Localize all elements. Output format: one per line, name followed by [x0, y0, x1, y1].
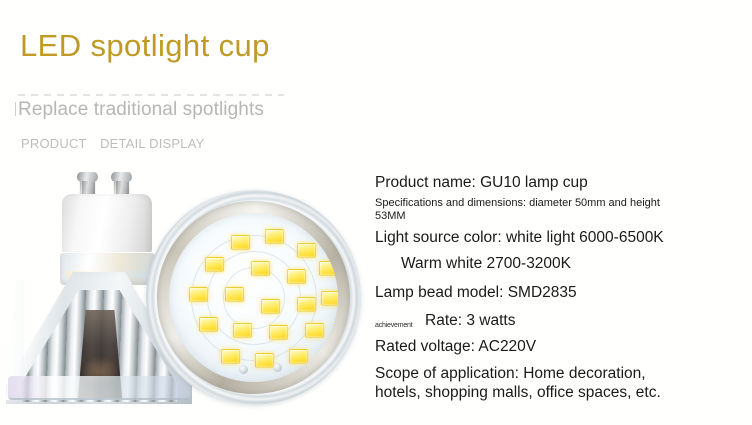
smd-led-chip-16 [305, 323, 324, 338]
smd-led-chip-11 [297, 297, 316, 312]
spec-rated-voltage: Rated voltage: AC220V [375, 336, 747, 357]
smd-led-chip-8 [189, 287, 208, 302]
dashed-divider [18, 94, 284, 96]
smd-led-chip-19 [289, 349, 308, 364]
spec-rate-row: achievement Rate: 3 watts [375, 310, 747, 331]
smd-led-chip-14 [233, 323, 252, 338]
subtitle-tick-mark [15, 102, 16, 116]
smd-led-chip-5 [251, 261, 270, 276]
spec-light-source-color: Light source color: white light 6000-650… [375, 227, 747, 248]
smd-led-chip-4 [205, 257, 224, 272]
smd-led-chip-1 [231, 235, 250, 250]
smd-led-chip-15 [269, 325, 288, 340]
spec-lamp-bead-model: Lamp bead model: SMD2835 [375, 282, 747, 303]
smd-led-chip-9 [225, 287, 244, 302]
caption-product-label: PRODUCT [21, 136, 86, 151]
gu10-lamp-led-face-photo [146, 190, 361, 410]
smd-led-chip-3 [297, 243, 316, 258]
lamp-ceramic-base [62, 194, 152, 256]
product-detail-banner: LED spotlight cup Replace traditional sp… [0, 0, 752, 425]
spec-product-name: Product name: GU10 lamp cup [375, 172, 747, 193]
spec-dimensions: Specifications and dimensions: diameter … [375, 197, 675, 222]
smd-led-chip-10 [261, 299, 280, 314]
specification-list: Product name: GU10 lamp cup Specificatio… [375, 172, 747, 402]
smd-led-chip-7 [319, 261, 338, 276]
caption-detail-display-label: DETAIL DISPLAY [100, 136, 204, 151]
achievement-micro-label: achievement [375, 322, 425, 332]
product-photo-group [0, 160, 360, 425]
page-title: LED spotlight cup [20, 28, 270, 64]
smd-led-chip-6 [287, 269, 306, 284]
solder-pad-2 [273, 363, 282, 372]
subtitle-text: Replace traditional spotlights [18, 99, 264, 120]
spec-warm-white: Warm white 2700-3200K [375, 253, 747, 274]
smd-led-chip-12 [321, 291, 338, 306]
subtitle: Replace traditional spotlights [18, 99, 264, 121]
smd-led-chip-2 [265, 229, 284, 244]
lamp-led-pcb [169, 213, 338, 382]
spec-scope-of-application: Scope of application: Home decoration, h… [375, 364, 695, 402]
spec-rate: Rate: 3 watts [425, 310, 515, 331]
solder-pad-1 [239, 365, 248, 374]
smd-led-chip-13 [199, 317, 218, 332]
section-caption: PRODUCT DETAIL DISPLAY [21, 136, 205, 151]
smd-led-chip-17 [221, 349, 240, 364]
smd-led-chip-18 [255, 353, 274, 368]
